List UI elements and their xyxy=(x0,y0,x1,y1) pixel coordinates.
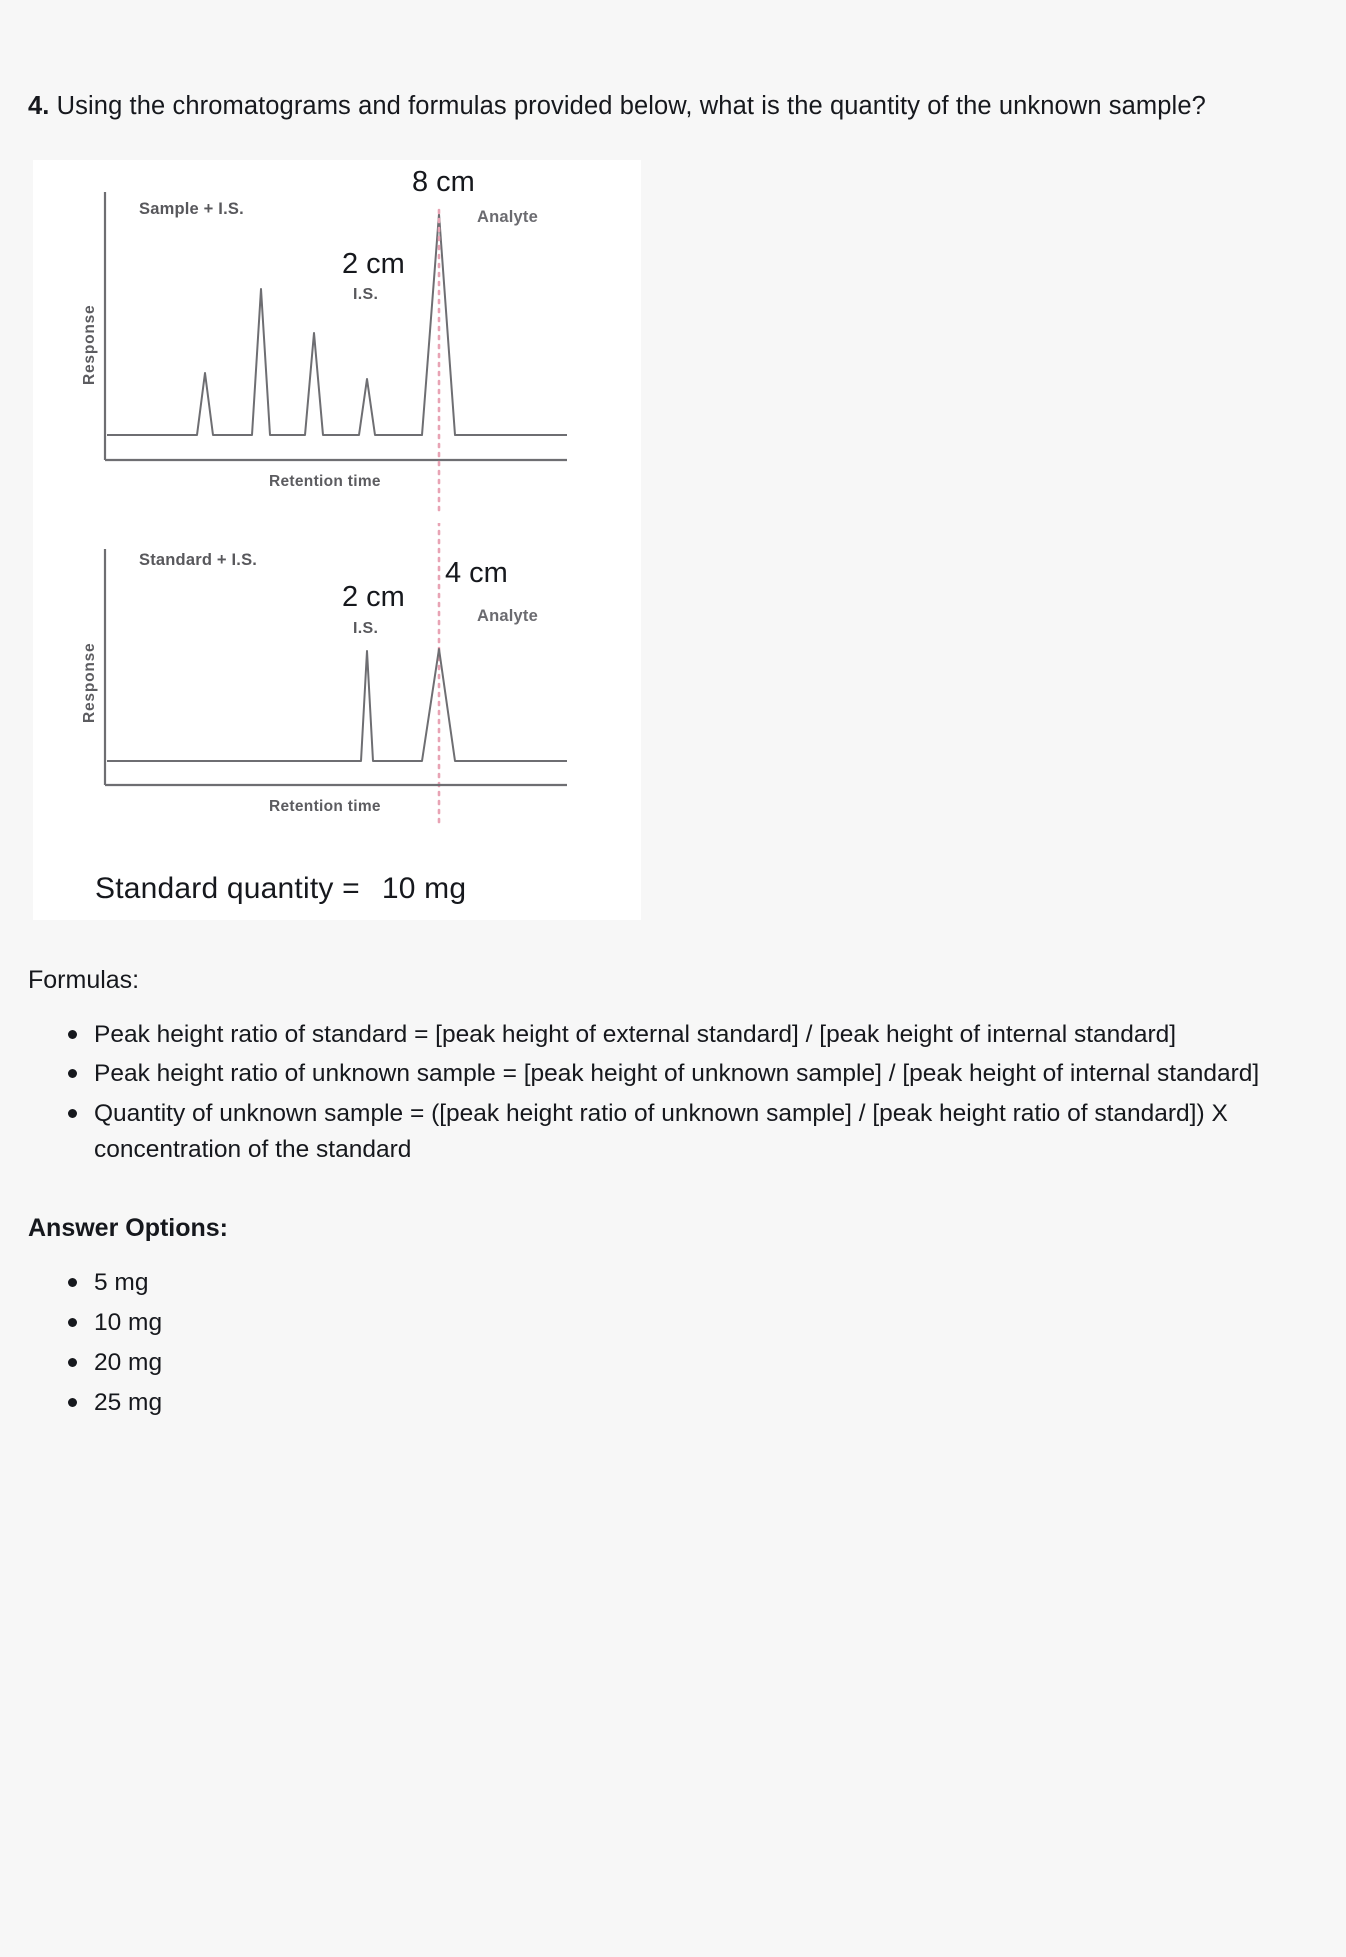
answer-option[interactable]: 10 mg xyxy=(94,1305,1318,1341)
standard-chart-title: Standard + I.S. xyxy=(139,551,257,570)
standard-quantity-row: Standard quantity =10 mg xyxy=(47,872,627,906)
sample-y-axis-label: Response xyxy=(81,305,99,385)
sample-chart-title: Sample + I.S. xyxy=(139,200,244,219)
standard-chromatogram: Standard + I.S. 2 cm I.S. 4 cm Analyte R… xyxy=(47,523,627,868)
chromatogram-figure: Sample + I.S. 2 cm I.S. 8 cm Analyte Res… xyxy=(33,160,641,920)
list-item: Quantity of unknown sample = ([peak heig… xyxy=(94,1096,1318,1169)
sample-chromatogram: Sample + I.S. 2 cm I.S. 8 cm Analyte Res… xyxy=(47,170,627,515)
formulas-heading: Formulas: xyxy=(28,966,1318,995)
standard-quantity-label: Standard quantity = xyxy=(95,872,360,905)
standard-quantity-value: 10 mg xyxy=(382,872,466,905)
standard-analyte-label: Analyte xyxy=(477,607,538,626)
standard-chromatogram-svg xyxy=(47,523,627,868)
standard-analyte-height-label: 4 cm xyxy=(445,557,508,590)
list-item: Peak height ratio of standard = [peak he… xyxy=(94,1017,1318,1053)
answer-option[interactable]: 20 mg xyxy=(94,1345,1318,1381)
sample-is-label: I.S. xyxy=(353,286,378,304)
answer-option[interactable]: 25 mg xyxy=(94,1385,1318,1421)
question-number: 4. xyxy=(28,92,49,120)
sample-is-height-label: 2 cm xyxy=(342,248,405,281)
standard-is-label: I.S. xyxy=(353,620,378,638)
standard-x-axis-label: Retention time xyxy=(269,798,381,816)
sample-analyte-height-label: 8 cm xyxy=(412,166,475,199)
formulas-list: Peak height ratio of standard = [peak he… xyxy=(28,1017,1318,1168)
sample-x-axis-label: Retention time xyxy=(269,473,381,491)
answer-options-heading: Answer Options: xyxy=(28,1214,1318,1243)
sample-chromatogram-svg xyxy=(47,170,627,515)
standard-y-axis-label: Response xyxy=(81,643,99,723)
page-content: 4. Using the chromatograms and formulas … xyxy=(28,88,1318,1420)
answer-options-list: 5 mg 10 mg 20 mg 25 mg xyxy=(28,1265,1318,1420)
question-text: 4. Using the chromatograms and formulas … xyxy=(28,88,1318,124)
answer-option[interactable]: 5 mg xyxy=(94,1265,1318,1301)
sample-analyte-label: Analyte xyxy=(477,208,538,227)
page-root: 4. Using the chromatograms and formulas … xyxy=(0,0,1346,1957)
question-body: Using the chromatograms and formulas pro… xyxy=(49,92,1205,120)
standard-is-height-label: 2 cm xyxy=(342,581,405,614)
list-item: Peak height ratio of unknown sample = [p… xyxy=(94,1056,1318,1092)
